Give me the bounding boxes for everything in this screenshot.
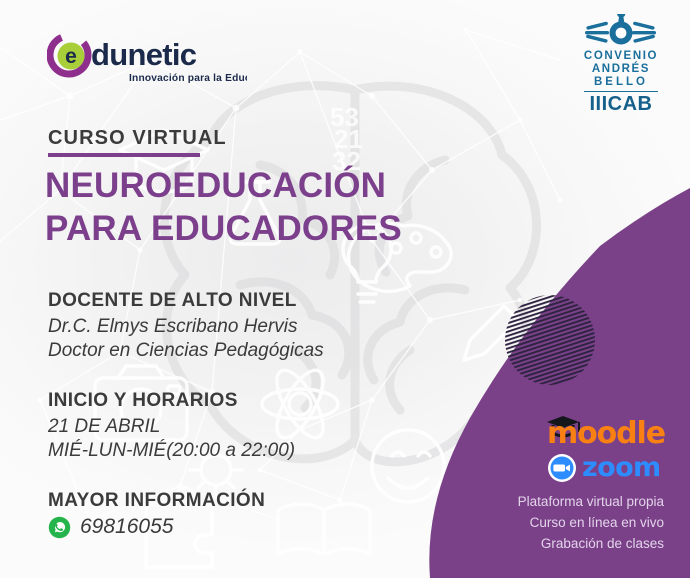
svg-text:e: e (65, 45, 77, 68)
horarios-heading: INICIO Y HORARIOS (48, 390, 295, 412)
informacion-heading: MAYOR INFORMACIÓN (48, 490, 265, 512)
cab-line-2: ANDRÉS (562, 63, 680, 76)
course-flyer: 53 21 32 e dunetic Innovaci (0, 0, 690, 578)
contact-row[interactable]: 69816055 (48, 515, 265, 539)
zoom-wordmark: zoom (582, 452, 661, 483)
cab-line-3: BELLO (562, 76, 680, 89)
zoom-logo: zoom (547, 452, 661, 483)
cab-acronym: IIICAB (562, 93, 680, 116)
edunetic-logo: e dunetic Innovación para la Educación (47, 34, 247, 86)
panel-note-3: Grabación de clases (444, 534, 664, 555)
section-docente: DOCENTE DE ALTO NIVEL Dr.C. Elmys Escrib… (48, 290, 324, 363)
docente-heading: DOCENTE DE ALTO NIVEL (48, 290, 324, 312)
title-line-1: NEUROEDUCACIÓN (45, 164, 445, 207)
horarios-start-date: 21 DE ABRIL (48, 415, 295, 439)
video-camera-icon (547, 453, 577, 483)
svg-text:Innovación para la Educación: Innovación para la Educación (129, 73, 247, 84)
course-kicker: CURSO VIRTUAL (48, 127, 227, 150)
docente-name: Dr.C. Elmys Escribano Hervis (48, 315, 324, 339)
panel-note-1: Plataforma virtual propia (444, 492, 664, 513)
section-horarios: INICIO Y HORARIOS 21 DE ABRIL MIÉ-LUN-MI… (48, 390, 295, 463)
cab-divider (584, 91, 658, 92)
moodle-logo: moodle (543, 412, 663, 446)
contact-phone[interactable]: 69816055 (80, 515, 173, 539)
panel-note-2: Curso en línea en vivo (444, 513, 664, 534)
panel-notes: Plataforma virtual propia Curso en línea… (444, 492, 664, 555)
kicker-underline (48, 153, 200, 157)
moodle-wordmark: moodle (547, 416, 665, 451)
docente-credential: Doctor en Ciencias Pedagógicas (48, 339, 324, 363)
title-line-2: PARA EDUCADORES (45, 207, 445, 250)
whatsapp-icon[interactable] (48, 516, 71, 539)
horarios-schedule: MIÉ-LUN-MIÉ(20:00 a 22:00) (48, 439, 295, 463)
convenio-andres-bello-sun-icon (584, 14, 658, 50)
page-title: NEUROEDUCACIÓN PARA EDUCADORES (45, 164, 445, 250)
cab-line-1: CONVENIO (562, 50, 680, 63)
svg-text:dunetic: dunetic (91, 37, 197, 72)
partner-logo-cab: CONVENIO ANDRÉS BELLO IIICAB (562, 14, 680, 106)
striped-circle-decoration (504, 294, 596, 386)
section-informacion: MAYOR INFORMACIÓN 69816055 (48, 490, 265, 539)
